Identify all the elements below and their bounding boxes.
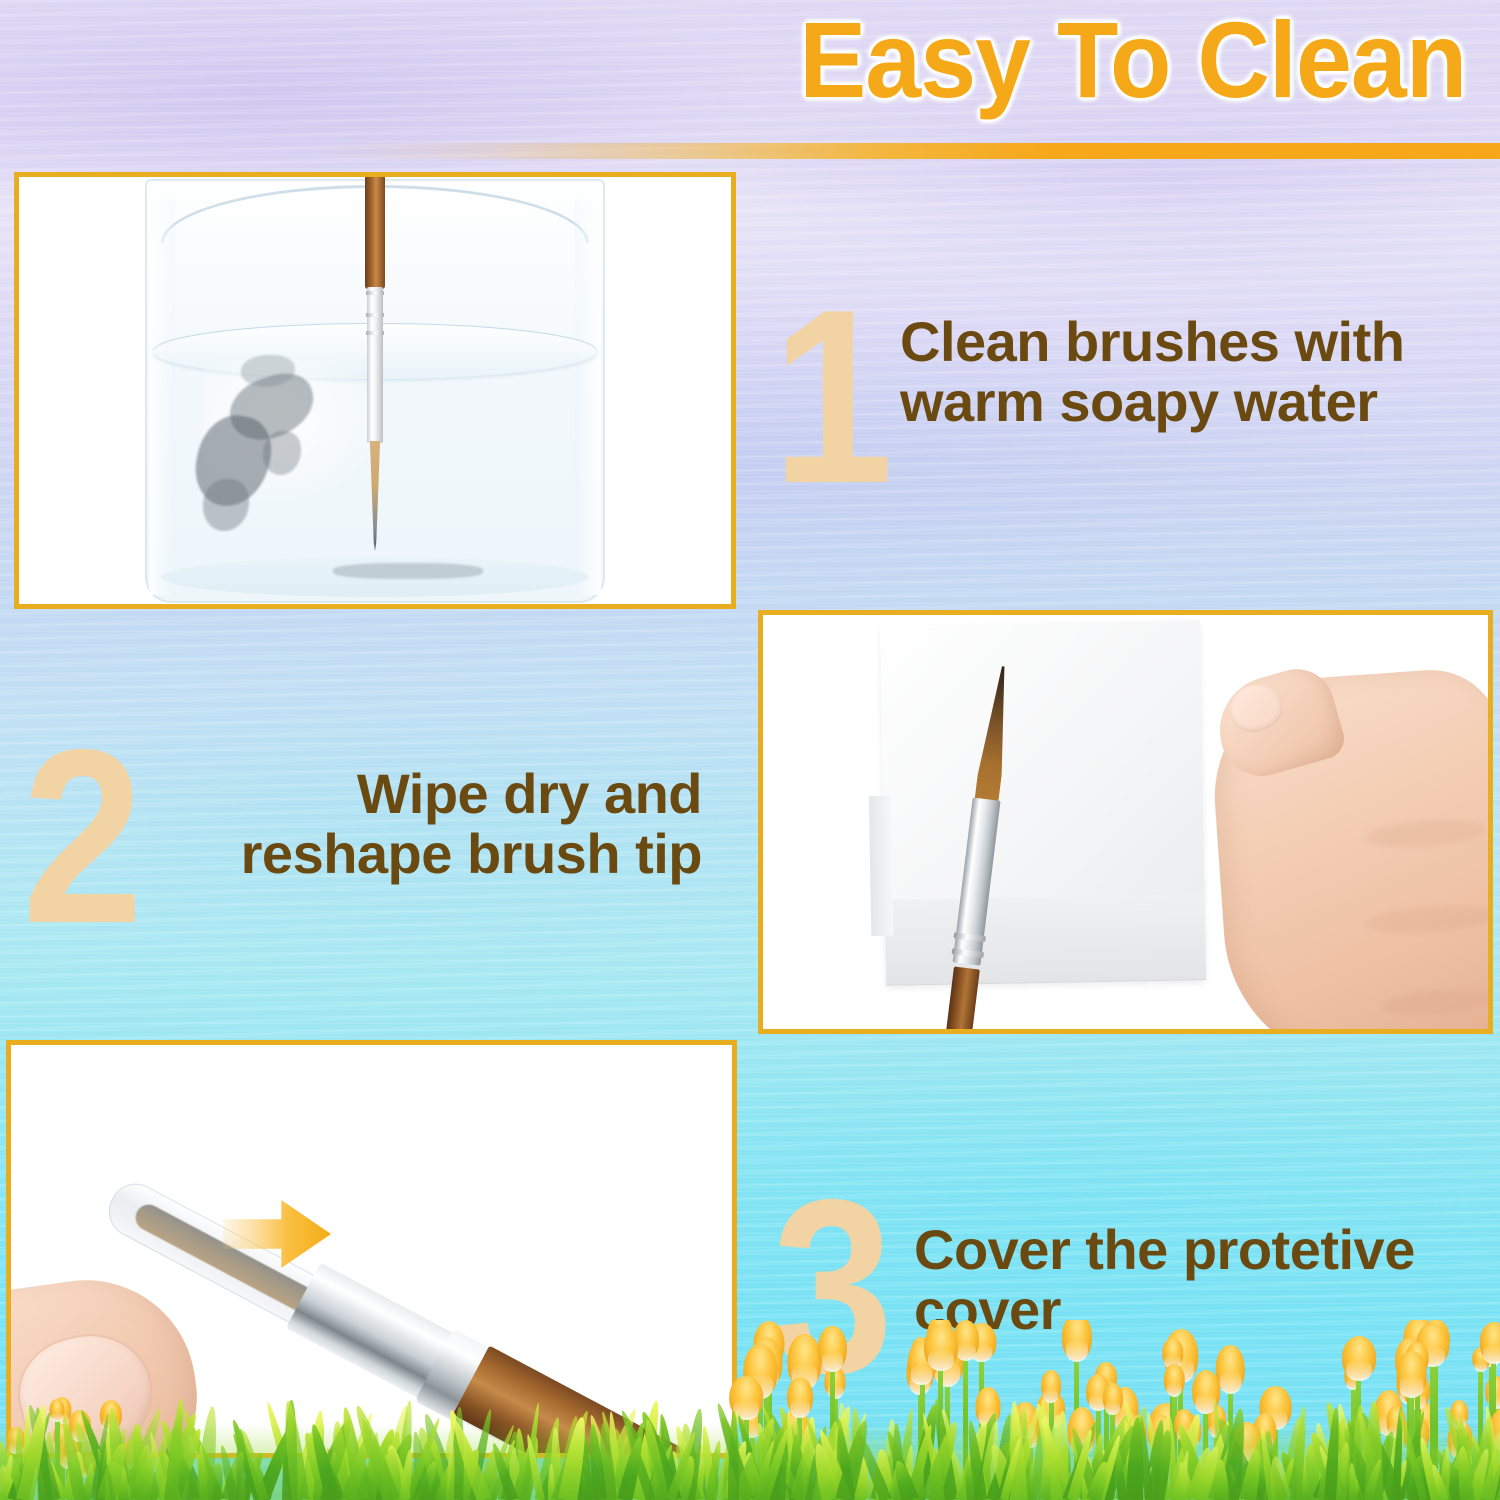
- tissue-fold: [869, 796, 893, 936]
- page-title: Easy To Clean: [799, 4, 1466, 116]
- step-text-1-line-2: warm soapy water: [900, 372, 1480, 432]
- step-text-3-line-2: cover: [914, 1280, 1474, 1340]
- direction-arrow-icon: [269, 1445, 377, 1458]
- step-number-2: 2: [22, 712, 140, 960]
- brush-ferrule-ring: [366, 331, 384, 335]
- step-text-1-line-1: Clean brushes with: [900, 312, 1480, 372]
- photo-protective-cover-on-brush: [11, 1045, 732, 1453]
- pigment-cloud: [333, 563, 483, 579]
- step-text-2: Wipe dry and reshape brush tip: [172, 764, 702, 884]
- knuckle-crease: [1365, 902, 1493, 937]
- step-block-1: 1 Clean brushes with warm soapy water: [772, 272, 1472, 502]
- step-text-3: Cover the protetive cover: [914, 1220, 1474, 1340]
- step-text-2-line-2: reshape brush tip: [172, 824, 702, 884]
- step-text-3-line-1: Cover the protetive: [914, 1220, 1474, 1280]
- brush-ferrule: [367, 287, 383, 443]
- step-number-1: 1: [772, 272, 890, 520]
- pigment-cloud: [203, 479, 249, 531]
- step-text-2-line-1: Wipe dry and: [172, 764, 702, 824]
- page-header: Easy To Clean: [0, 0, 1500, 160]
- tissue-fold: [885, 894, 1206, 986]
- photo-brush-in-water-glass: [19, 177, 731, 604]
- step-number-3: 3: [772, 1162, 890, 1410]
- photo-panel-step-3: [6, 1040, 737, 1458]
- step-text-1: Clean brushes with warm soapy water: [900, 312, 1480, 432]
- step-block-2: 2 Wipe dry and reshape brush tip: [22, 712, 722, 952]
- brush-ferrule-ring: [366, 313, 384, 317]
- glass-of-water: [145, 179, 605, 603]
- photo-wiping-brush-on-tissue: [763, 615, 1488, 1029]
- brush-handle: [453, 1346, 710, 1458]
- white-tissue: [880, 620, 1206, 986]
- brush-bristle-tip: [974, 665, 1015, 807]
- brush-handle: [365, 173, 385, 289]
- title-underline-rule: [320, 143, 1500, 159]
- brush-handle: [942, 966, 980, 1034]
- step-block-3: 3 Cover the protetive cover: [772, 1162, 1472, 1402]
- photo-panel-step-1: [14, 172, 736, 609]
- knuckle-crease: [1381, 987, 1492, 1019]
- glass-highlight-right: [575, 199, 601, 595]
- knuckle-crease: [1365, 817, 1487, 851]
- brush-ferrule-ring: [366, 291, 384, 295]
- photo-panel-step-2: [758, 610, 1493, 1034]
- glass-highlight-left: [149, 199, 175, 595]
